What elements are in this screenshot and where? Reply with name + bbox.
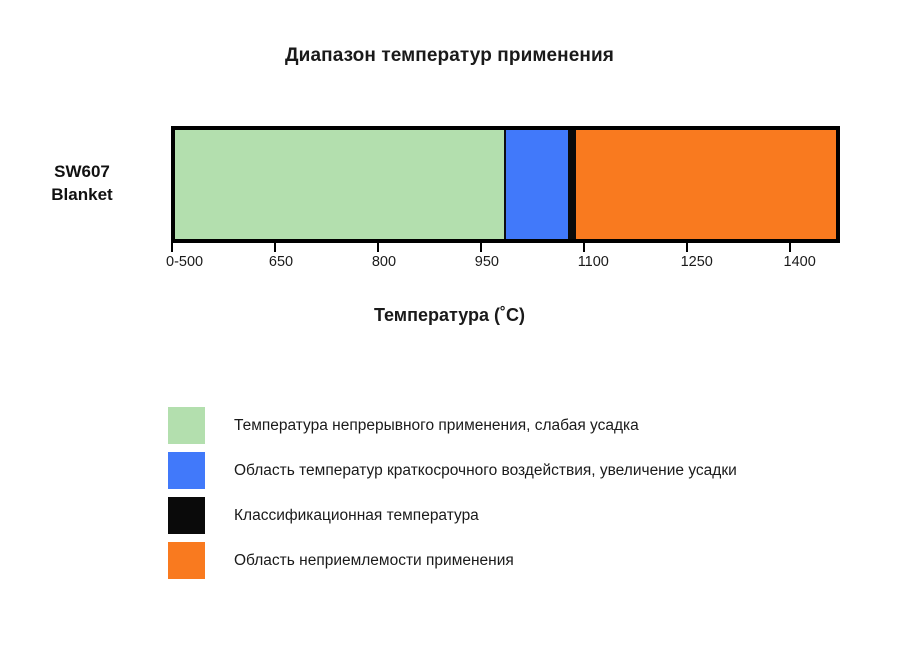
legend-swatch-short-term-exposure <box>168 452 205 489</box>
y-axis-category-label-line-2: Blanket <box>20 183 144 206</box>
chart-title: Диапазон температур применения <box>0 45 899 67</box>
x-axis-tick-label: 650 <box>269 254 293 270</box>
legend-label-unacceptable-use: Область неприемлемости применения <box>234 552 514 570</box>
x-axis-tick <box>686 243 688 252</box>
x-axis-tick-label: 1100 <box>578 254 609 270</box>
y-axis-category-label-line-1: SW607 <box>20 160 144 183</box>
chart-legend: Температура непрерывного применения, сла… <box>168 407 737 587</box>
legend-swatch-continuous-use <box>168 407 205 444</box>
x-axis-tick <box>377 243 379 252</box>
legend-label-short-term-exposure: Область температур краткосрочного воздей… <box>234 462 737 480</box>
x-axis-tick-label: 950 <box>475 254 499 270</box>
x-axis-tick-label: 1250 <box>681 254 713 270</box>
plot-frame <box>171 126 840 243</box>
legend-item: Область неприемлемости применения <box>168 542 737 579</box>
bar-segment-continuous-use <box>175 130 504 239</box>
legend-swatch-classification-temperature <box>168 497 205 534</box>
bar-segment-classification-temperature <box>568 130 576 239</box>
y-axis-category-label: SW607 Blanket <box>20 160 144 206</box>
x-axis-tick <box>583 243 585 252</box>
x-axis-tick-label: 1400 <box>784 254 816 270</box>
x-axis: 0-500650800950110012501400 <box>171 243 840 283</box>
legend-item: Классификационная температура <box>168 497 737 534</box>
legend-swatch-unacceptable-use <box>168 542 205 579</box>
bar-segment-unacceptable-use <box>576 130 836 239</box>
legend-item: Область температур краткосрочного воздей… <box>168 452 737 489</box>
x-axis-tick-label: 0-500 <box>166 254 203 270</box>
x-axis-title: Температура (˚C) <box>0 305 899 326</box>
legend-item: Температура непрерывного применения, сла… <box>168 407 737 444</box>
bar-segment-short-term-exposure <box>504 130 568 239</box>
legend-label-classification-temperature: Классификационная температура <box>234 507 479 525</box>
x-axis-tick <box>171 243 173 252</box>
stacked-bar <box>175 130 836 239</box>
legend-label-continuous-use: Температура непрерывного применения, сла… <box>234 417 639 435</box>
x-axis-tick <box>274 243 276 252</box>
x-axis-tick <box>480 243 482 252</box>
x-axis-tick <box>789 243 791 252</box>
x-axis-tick-label: 800 <box>372 254 396 270</box>
